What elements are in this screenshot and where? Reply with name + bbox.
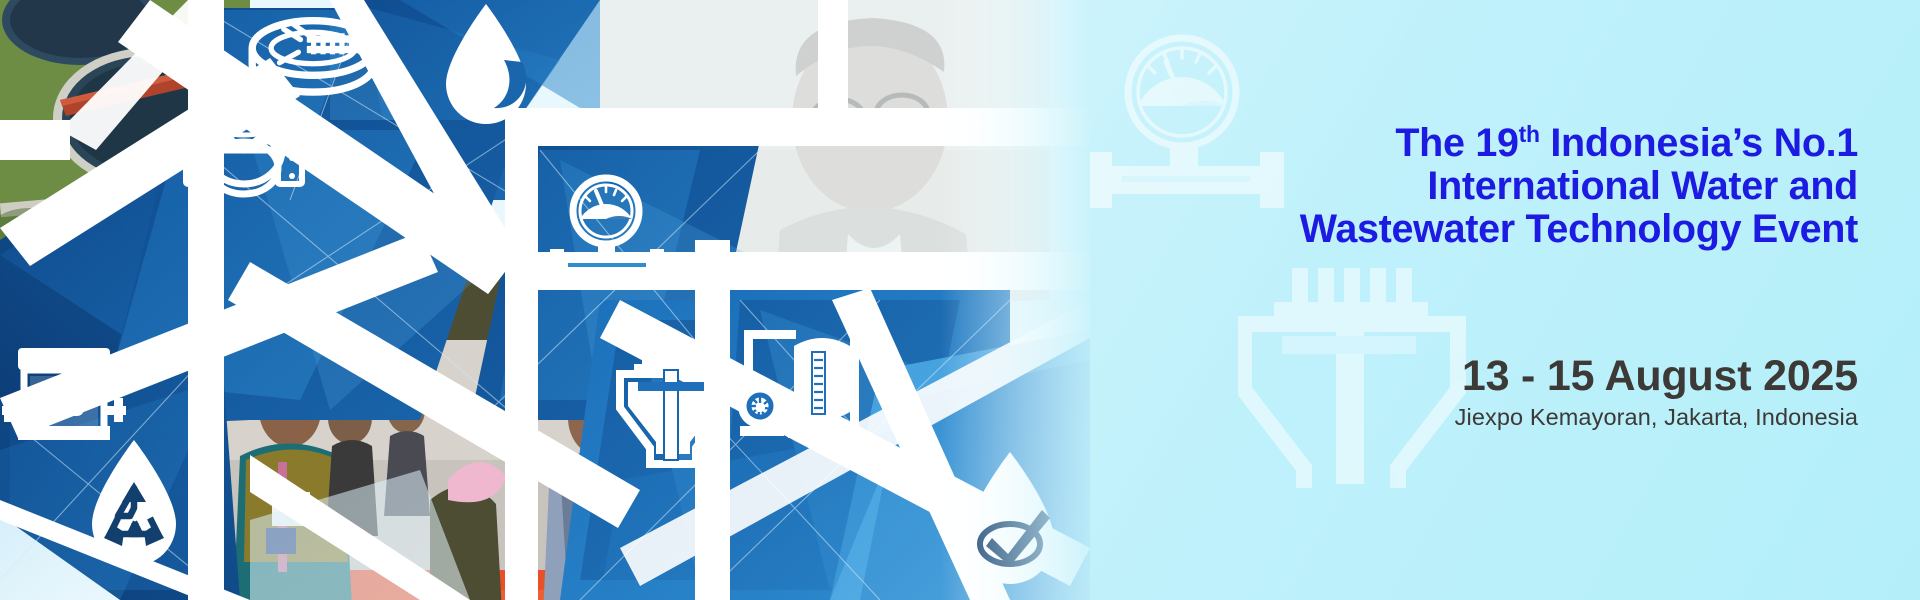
headline-line-2: International Water and [1158, 165, 1858, 208]
headline-line-1: The 19th Indonesia’s No.1 [1158, 122, 1858, 165]
headline-line-1-post: Indonesia’s No.1 [1540, 121, 1858, 165]
event-venue: Jiexpo Kemayoran, Jakarta, Indonesia [1158, 403, 1858, 431]
headline-line-1-pre: The 19 [1395, 121, 1518, 165]
event-date: 13 - 15 August 2025 [1158, 352, 1858, 400]
ordinal-suffix: th [1519, 121, 1540, 147]
filtration-unit-icon [2, 348, 126, 440]
event-banner: The 19th Indonesia’s No.1 International … [0, 0, 1920, 600]
event-text-block: The 19th Indonesia’s No.1 International … [1158, 0, 1858, 600]
page-title: The 19th Indonesia’s No.1 International … [1158, 122, 1858, 251]
mosaic-collage [0, 0, 1090, 600]
right-content-panel: The 19th Indonesia’s No.1 International … [1090, 0, 1920, 600]
headline-line-3: Wastewater Technology Event [1158, 208, 1858, 251]
